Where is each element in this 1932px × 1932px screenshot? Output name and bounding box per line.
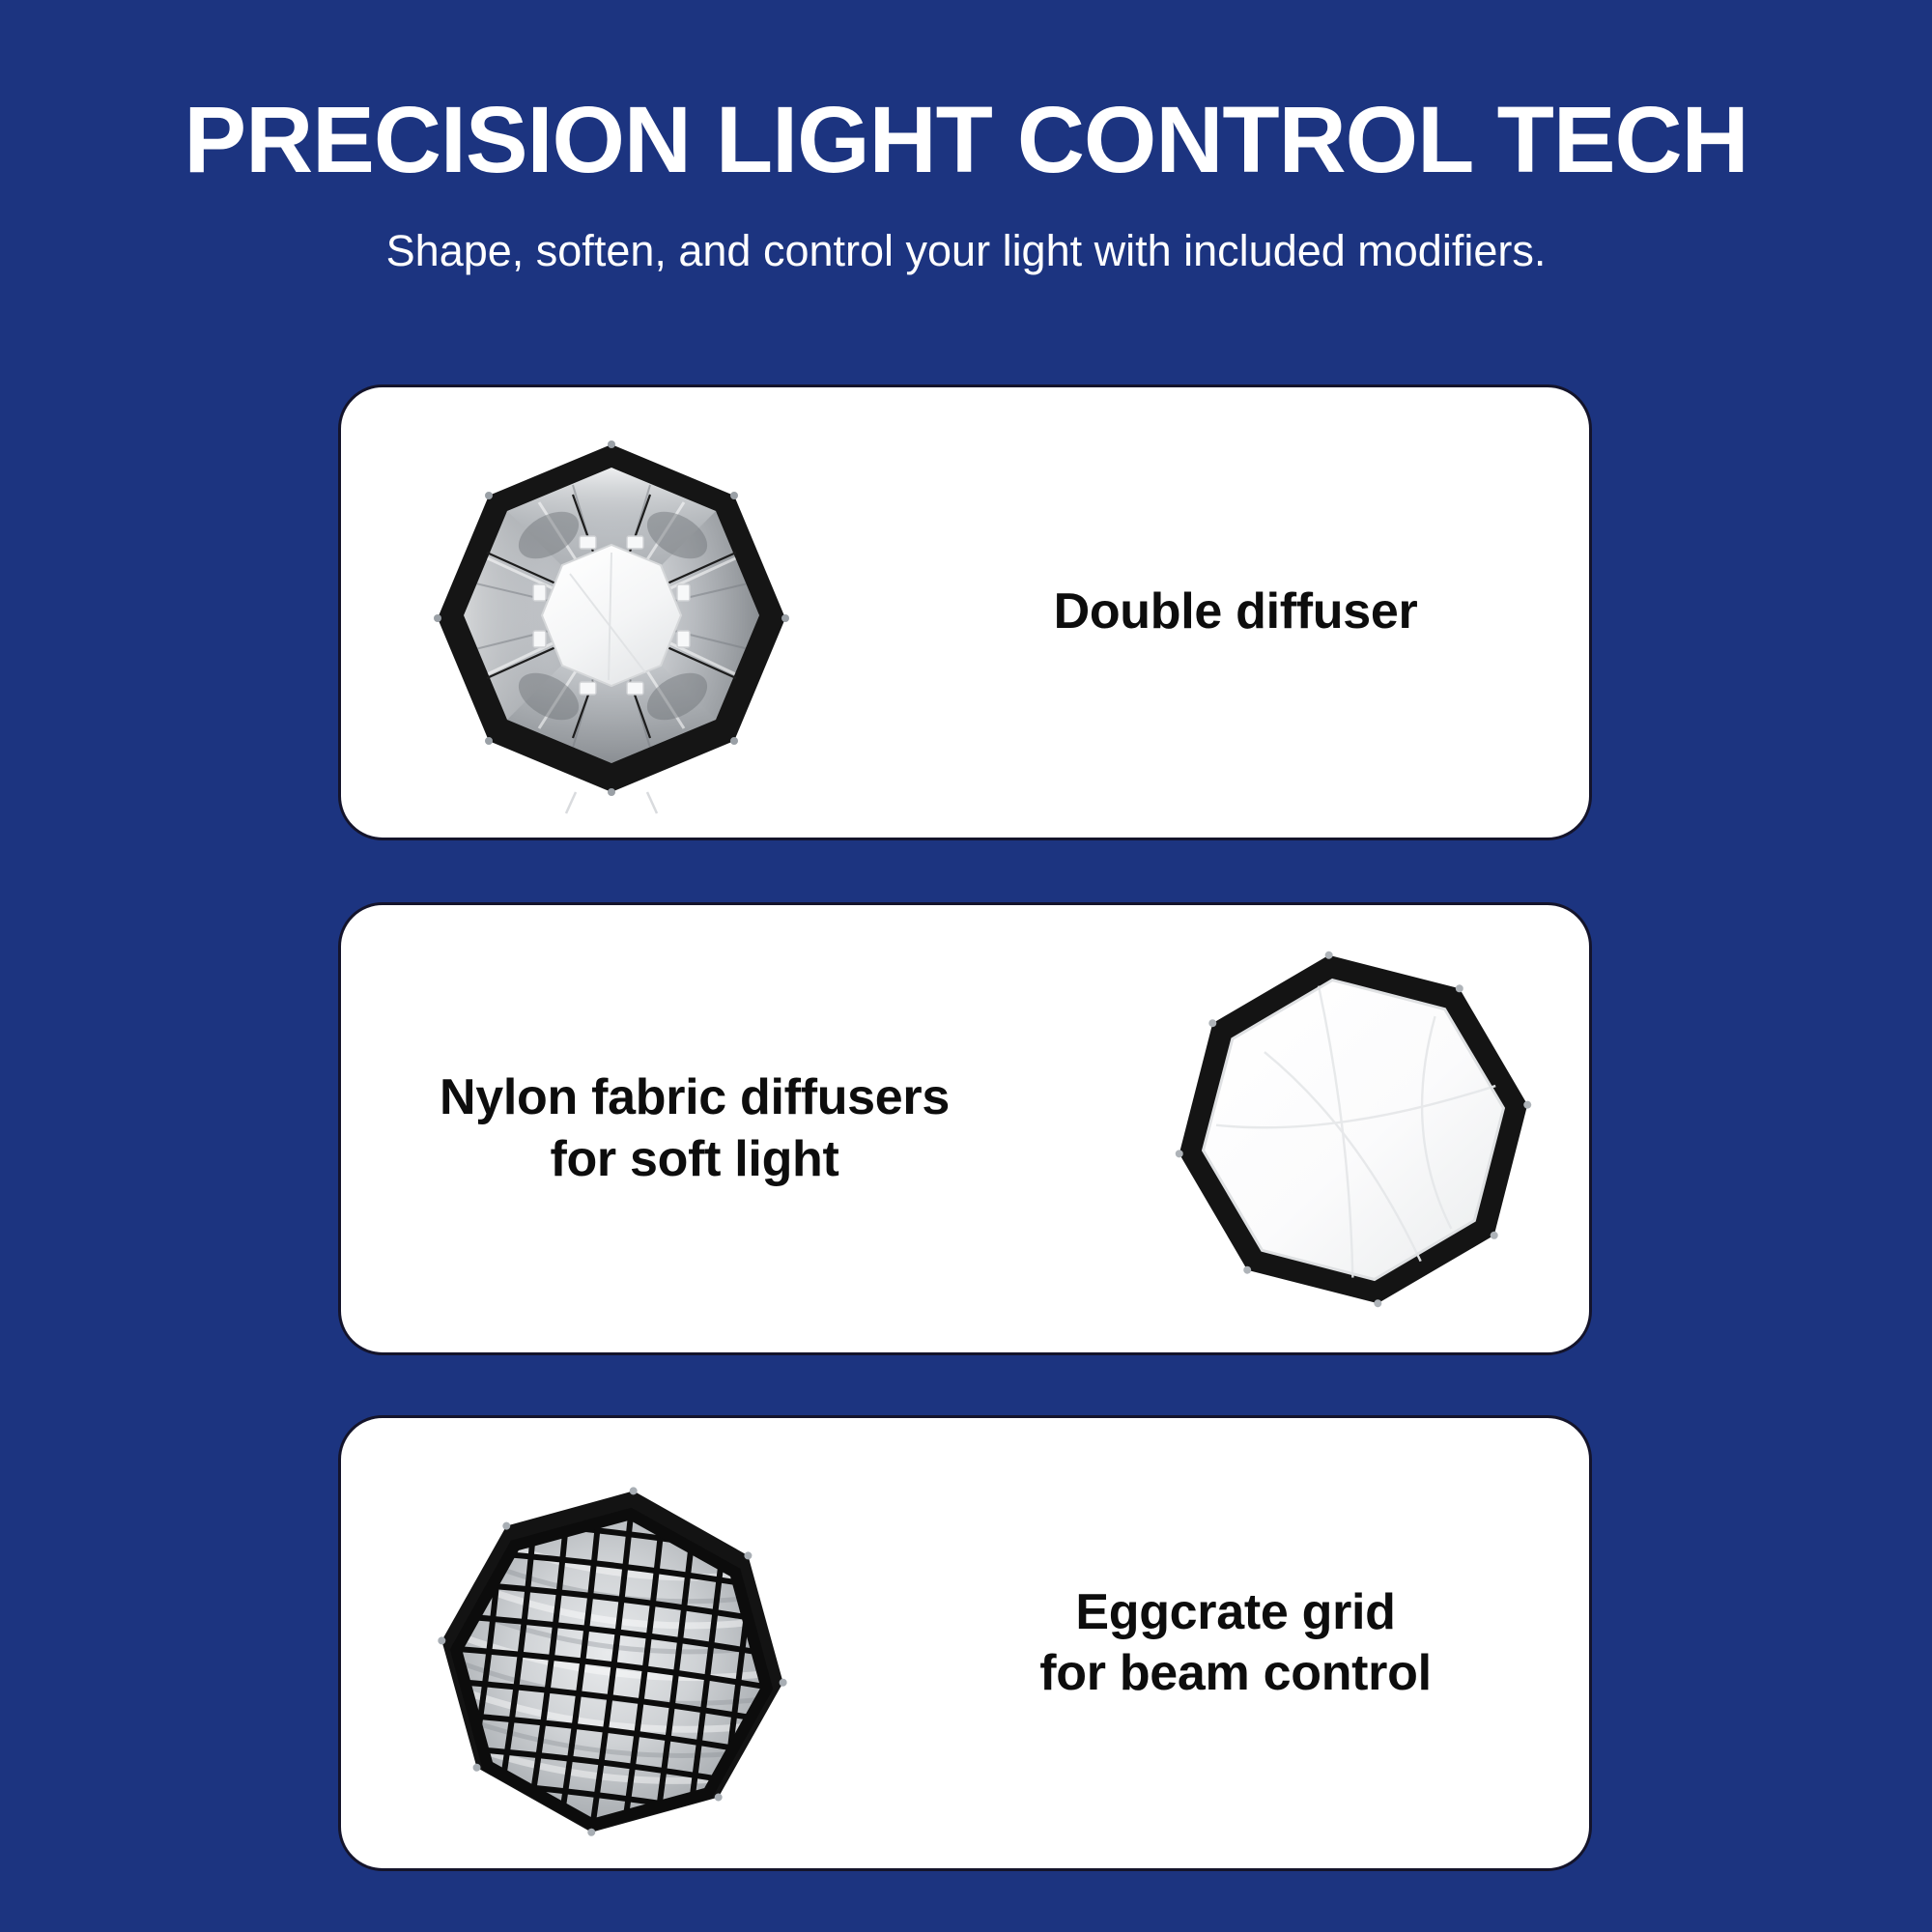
card-label-double-diffuser: Double diffuser <box>1054 582 1418 642</box>
feature-card-double-diffuser: Double diffuser <box>338 384 1592 840</box>
octagonal-softbox-eggcrate-grid-icon <box>409 1476 814 1862</box>
card-label-eggcrate-grid: Eggcrate grid for beam control <box>1039 1582 1431 1705</box>
softbox-silver-image <box>341 387 882 838</box>
feature-card-eggcrate-grid: Eggcrate grid for beam control <box>338 1415 1592 1871</box>
softbox-white-diffuser-image <box>1083 905 1592 1352</box>
softbox-eggcrate-grid-image <box>341 1418 882 1868</box>
octagonal-softbox-white-diffuser-icon <box>1160 936 1547 1322</box>
card-label-nylon-diffusers: Nylon fabric diffusers for soft light <box>440 1067 950 1190</box>
feature-card-nylon-diffusers: Nylon fabric diffusers for soft light <box>338 902 1592 1355</box>
page-title: PRECISION LIGHT CONTROL TECH <box>0 0 1932 186</box>
page-subtitle: Shape, soften, and control your light wi… <box>0 186 1932 275</box>
header: PRECISION LIGHT CONTROL TECH Shape, soft… <box>0 0 1932 275</box>
octagonal-softbox-silver-interior-icon <box>404 410 819 815</box>
